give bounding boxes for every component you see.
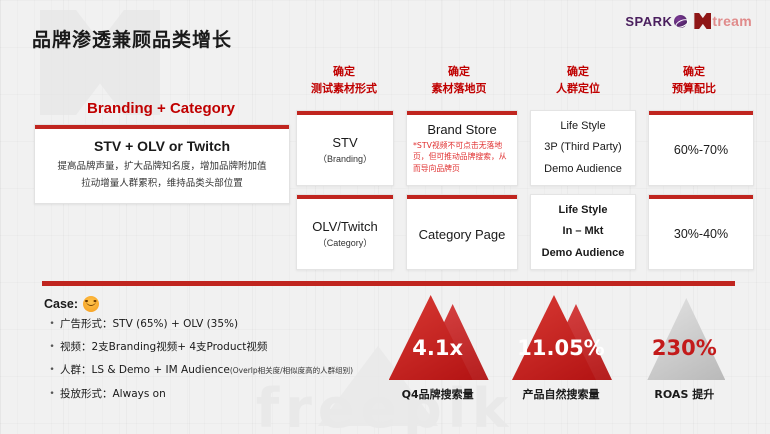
- landing-value: Category Page: [419, 227, 506, 242]
- table-row: OLV/Twitch （Category） Category Page Life…: [296, 194, 754, 270]
- cell-format-row1[interactable]: STV （Branding）: [296, 110, 394, 186]
- column-header-format: 确定 测试素材形式: [296, 64, 392, 97]
- column-header-landing: 确定 素材落地页: [404, 64, 514, 97]
- budget-value: 30%-40%: [674, 227, 728, 241]
- audience-line-3: Demo Audience: [542, 243, 625, 264]
- column-header-audience-bottom: 人群定位: [526, 81, 630, 98]
- column-header-landing-bottom: 素材落地页: [404, 81, 514, 98]
- case-section: Case: • 广告形式：STV (65%) + OLV (35%) • 视频：…: [44, 296, 384, 410]
- landing-value: Brand Store: [427, 122, 496, 137]
- column-header-format-bottom: 测试素材形式: [296, 81, 392, 98]
- list-item: • 视频：2支Branding视频+ 4支Product视频: [44, 340, 384, 354]
- metrics-row: 4.1x Q4品牌搜索量 11.05% 产品自然搜索量 230% ROAS 提升: [376, 292, 746, 402]
- list-item: • 广告形式：STV (65%) + OLV (35%): [44, 317, 384, 331]
- triangle-graphic: 11.05%: [502, 292, 620, 380]
- table-row: STV （Branding） Brand Store *STV视频不可点击无落地…: [296, 110, 754, 186]
- case-item-label: 视频：: [60, 341, 92, 353]
- metric-value: 230%: [625, 336, 743, 360]
- branding-card-sub-1: 提高品牌声量，扩大品牌知名度，增加品牌附加值: [43, 159, 281, 176]
- column-header-audience-top: 确定: [526, 64, 630, 81]
- column-header-budget-top: 确定: [642, 64, 746, 81]
- cell-landing-row2[interactable]: Category Page: [406, 194, 518, 270]
- format-subvalue: （Category）: [318, 236, 373, 249]
- column-header-budget: 确定 预算配比: [642, 64, 746, 97]
- metric-value: 4.1x: [379, 336, 497, 360]
- format-value: OLV/Twitch: [312, 219, 378, 234]
- case-list: • 广告形式：STV (65%) + OLV (35%) • 视频：2支Bran…: [44, 317, 384, 401]
- column-header-budget-bottom: 预算配比: [642, 81, 746, 98]
- case-item-value: STV (65%) + OLV (35%): [113, 318, 239, 330]
- metric-roas: 230% ROAS 提升: [625, 292, 743, 402]
- format-subvalue: （Branding）: [318, 152, 372, 165]
- case-title: Case:: [44, 296, 384, 312]
- metric-label: Q4品牌搜索量: [379, 386, 497, 402]
- metric-organic-search: 11.05% 产品自然搜索量: [502, 292, 620, 402]
- bullet-icon: •: [44, 317, 60, 330]
- column-header-format-top: 确定: [296, 64, 392, 81]
- list-item: • 投放形式：Always on: [44, 387, 384, 401]
- case-item-value: LS & Demo + IM Audience: [92, 364, 230, 376]
- column-headers: 确定 测试素材形式 确定 素材落地页 确定 人群定位 确定 预算配比: [296, 64, 746, 97]
- case-item-label: 投放形式：: [60, 388, 113, 400]
- branding-card-main: STV + OLV or Twitch: [43, 138, 281, 154]
- metric-label: 产品自然搜索量: [502, 386, 620, 402]
- cell-landing-row1[interactable]: Brand Store *STV视频不可点击无落地页，但可推动品牌搜索，从而导向…: [406, 110, 518, 186]
- spark-logo: SPARK: [625, 14, 687, 29]
- audience-line-3: Demo Audience: [544, 159, 622, 180]
- audience-line-1: Life Style: [560, 116, 605, 137]
- list-item: • 人群：LS & Demo + IM Audience(Overlp相关度/相…: [44, 363, 384, 377]
- audience-line-2: In – Mkt: [563, 221, 604, 242]
- triangle-graphic: 4.1x: [379, 292, 497, 380]
- smiling-face-emoji-icon: [83, 296, 99, 312]
- cell-budget-row1[interactable]: 60%-70%: [648, 110, 754, 186]
- case-item-value: 2支Branding视频+ 4支Product视频: [92, 341, 268, 353]
- column-header-landing-top: 确定: [404, 64, 514, 81]
- format-value: STV: [332, 135, 357, 150]
- section-divider: [42, 281, 735, 286]
- bullet-icon: •: [44, 387, 60, 400]
- xtream-logo: tream: [694, 13, 752, 29]
- case-item-note: (Overlp相关度/相似度高的人群组别): [230, 366, 353, 375]
- metric-label: ROAS 提升: [625, 386, 743, 402]
- bullet-icon: •: [44, 363, 60, 376]
- case-item-label: 人群：: [60, 364, 92, 376]
- cell-audience-row2[interactable]: Life Style In – Mkt Demo Audience: [530, 194, 636, 270]
- triangle-graphic: 230%: [625, 292, 743, 380]
- cell-budget-row2[interactable]: 30%-40%: [648, 194, 754, 270]
- branding-category-card: STV + OLV or Twitch 提高品牌声量，扩大品牌知名度，增加品牌附…: [34, 124, 290, 204]
- bullet-icon: •: [44, 340, 60, 353]
- spark-logo-text: SPARK: [625, 14, 672, 29]
- case-label: Case:: [44, 297, 78, 311]
- metric-value: 11.05%: [502, 336, 620, 360]
- x-mark-icon: [694, 13, 711, 29]
- case-item-label: 广告形式：: [60, 318, 113, 330]
- budget-value: 60%-70%: [674, 143, 728, 157]
- brand-logos: SPARK tream: [625, 13, 752, 29]
- page-title: 品牌渗透兼顾品类增长: [32, 25, 232, 52]
- branding-card-sub-2: 拉动增量人群累积，维持品类头部位置: [43, 176, 281, 193]
- case-item-value: Always on: [113, 388, 166, 400]
- cell-audience-row1[interactable]: Life Style 3P (Third Party) Demo Audienc…: [530, 110, 636, 186]
- slide-canvas: freepik 品牌渗透兼顾品类增长 SPARK tream Branding …: [0, 0, 770, 434]
- landing-note: *STV视频不可点击无落地页，但可推动品牌搜索，从而导向品牌页: [413, 140, 511, 174]
- spark-orb-icon: [674, 15, 687, 28]
- column-header-audience: 确定 人群定位: [526, 64, 630, 97]
- audience-line-1: Life Style: [559, 200, 608, 221]
- metric-brand-search: 4.1x Q4品牌搜索量: [379, 292, 497, 402]
- cell-format-row2[interactable]: OLV/Twitch （Category）: [296, 194, 394, 270]
- xtream-logo-text: tream: [712, 13, 752, 29]
- strategy-grid: STV （Branding） Brand Store *STV视频不可点击无落地…: [296, 110, 754, 278]
- audience-line-2: 3P (Third Party): [544, 137, 621, 158]
- branding-category-heading: Branding + Category: [46, 100, 276, 117]
